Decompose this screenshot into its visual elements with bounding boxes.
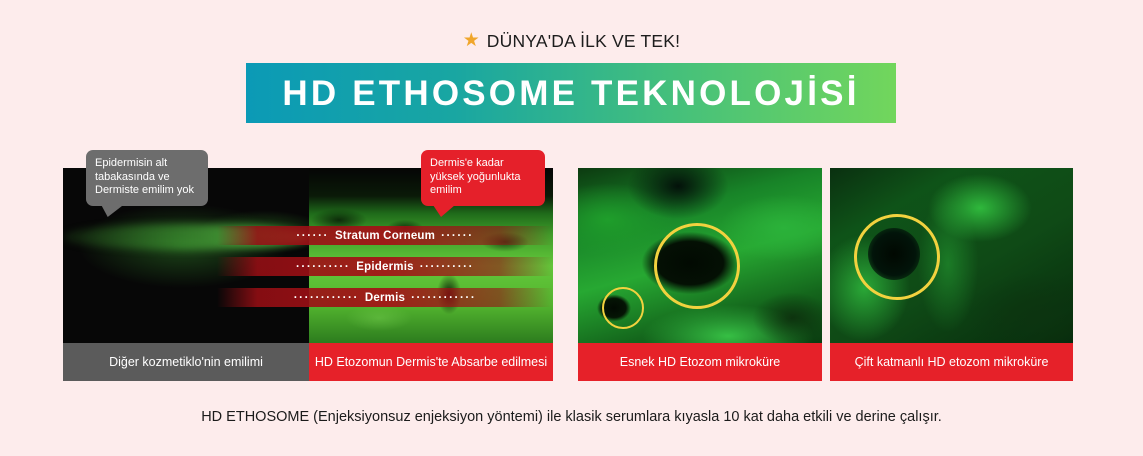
caption-flexible-microsphere: Esnek HD Etozom mikroküre bbox=[578, 343, 822, 381]
caption-double-layer-microsphere: Çift katmanlı HD etozom mikroküre bbox=[830, 343, 1073, 381]
skin-layer-label: Dermis bbox=[365, 292, 405, 304]
dotted-leader-left: ············ bbox=[294, 292, 359, 304]
panel-flexible-microsphere: Esnek HD Etozom mikroküre bbox=[578, 168, 822, 381]
skin-layer-row: ······ Stratum Corneum ······ bbox=[217, 226, 553, 245]
page-title: HD ETHOSOME TEKNOLOJİSİ bbox=[282, 76, 859, 111]
skin-layer-row: ·········· Epidermis ·········· bbox=[217, 257, 553, 276]
skin-layer-row: ············ Dermis ············ bbox=[217, 288, 553, 307]
panel-double-layer-microsphere: Çift katmanlı HD etozom mikroküre bbox=[830, 168, 1073, 381]
highlight-circle-small bbox=[602, 287, 644, 329]
tooltip-other-cosmetic: Epidermisin alt tabakasında ve Dermiste … bbox=[86, 150, 208, 206]
highlight-circle-large bbox=[854, 214, 940, 300]
skin-layer-label: Stratum Corneum bbox=[335, 230, 435, 242]
dotted-leader-right: ············ bbox=[411, 292, 476, 304]
tooltip-hd-ethosome: Dermis'e kadar yüksek yoğunlukta emilim bbox=[421, 150, 545, 206]
dotted-leader-left: ·········· bbox=[296, 261, 350, 273]
skin-layer-labels: ······ Stratum Corneum ······ ··········… bbox=[217, 226, 553, 316]
kicker-banner: ★ DÜNYA'DA İLK VE TEK! bbox=[0, 31, 1143, 52]
highlight-circle-large bbox=[654, 223, 740, 309]
kicker-text: DÜNYA'DA İLK VE TEK! bbox=[487, 31, 680, 52]
dotted-leader-right: ·········· bbox=[420, 261, 474, 273]
micrograph-double-layer bbox=[830, 168, 1073, 343]
skin-layer-label: Epidermis bbox=[356, 261, 413, 273]
star-icon: ★ bbox=[463, 31, 480, 50]
caption-hd-ethosome: HD Etozomun Dermis'te Absarbe edilmesi bbox=[309, 343, 553, 381]
footer-description: HD ETHOSOME (Enjeksiyonsuz enjeksiyon yö… bbox=[0, 409, 1143, 425]
micrograph-flexible bbox=[578, 168, 822, 343]
dotted-leader-right: ······ bbox=[441, 230, 474, 242]
title-banner: HD ETHOSOME TEKNOLOJİSİ bbox=[246, 63, 896, 123]
dotted-leader-left: ······ bbox=[296, 230, 329, 242]
caption-other-cosmetic: Diğer kozmetiklo'nin emilimi bbox=[63, 343, 309, 381]
panel-row: ······ Stratum Corneum ······ ··········… bbox=[63, 168, 1073, 381]
